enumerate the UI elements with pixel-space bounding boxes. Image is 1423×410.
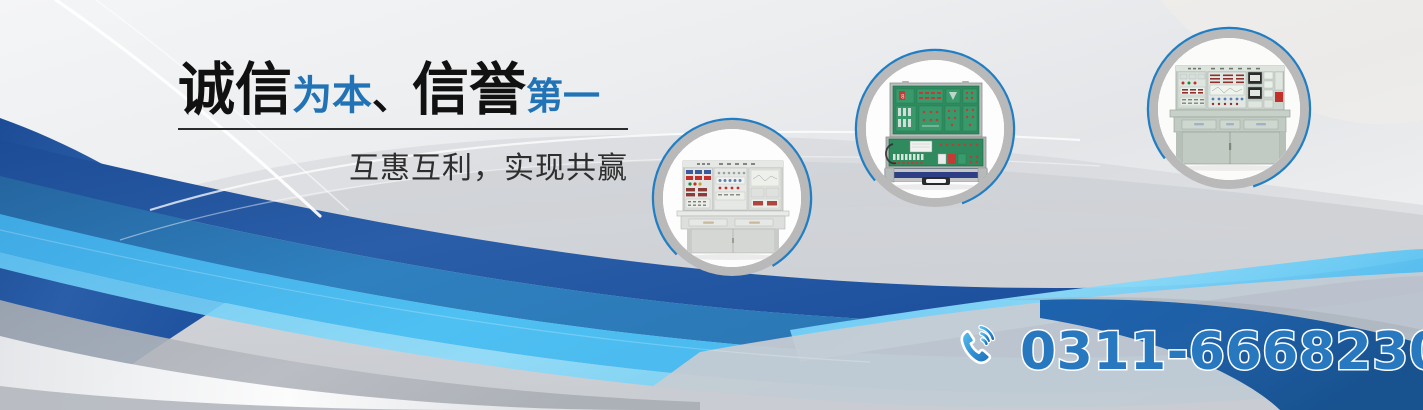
product-circle-2[interactable]: 8: [854, 48, 1016, 210]
headline-divider: [178, 128, 628, 130]
page-title: 诚信为本、信誉第一: [178, 62, 630, 119]
product-image-1: [663, 129, 801, 267]
subtitle: 互惠互利，实现共赢: [178, 143, 628, 187]
headline-part-4: 第一: [526, 75, 600, 118]
headline-block: 诚信为本、信誉第一 互惠互利，实现共赢: [178, 62, 630, 187]
headline-punctuation: 、: [372, 73, 412, 119]
phone-call-icon: [952, 322, 1006, 381]
headline-part-2: 为本: [292, 73, 372, 119]
contact-phone[interactable]: 0311-66682303: [952, 322, 1423, 381]
product-circle-1[interactable]: [651, 117, 813, 279]
headline-part-3: 信誉: [412, 57, 526, 123]
product-image-2: 8: [866, 60, 1004, 198]
product-circle-3[interactable]: [1146, 26, 1312, 192]
phone-number: 0311-66682303: [1020, 326, 1423, 378]
product-image-3: [1158, 38, 1300, 180]
promotional-banner: 诚信为本、信誉第一 互惠互利，实现共赢: [0, 0, 1423, 410]
svg-text:8: 8: [901, 94, 905, 101]
headline-part-1: 诚信: [178, 57, 292, 123]
